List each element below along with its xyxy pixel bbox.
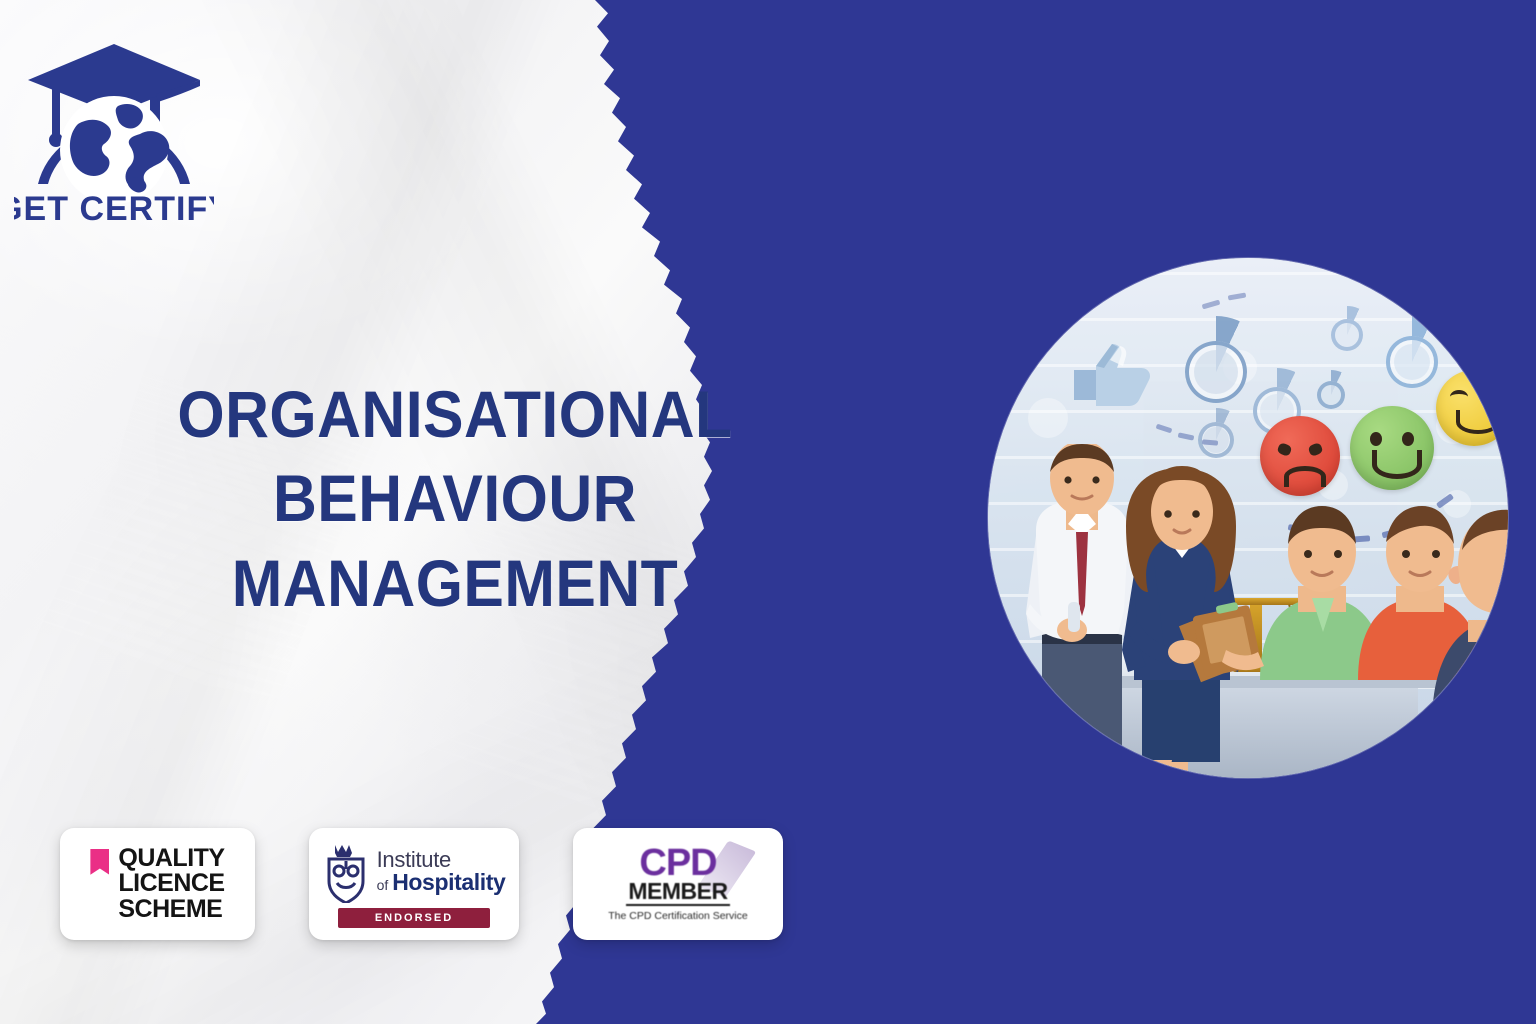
ioh-line-2-bold: Hospitality (392, 869, 505, 895)
title-line-3: MANAGEMENT (92, 541, 819, 625)
title-line-2: BEHAVIOUR (92, 456, 819, 540)
organisational-behaviour-meeting-illustration (988, 258, 1508, 778)
logo-wordmark: GET CERTIFY (14, 190, 214, 224)
cpd-title: CPD (639, 844, 716, 882)
accreditation-badges: QUALITY LICENCE SCHEME (60, 828, 783, 940)
graduation-cap-globe-icon: GET CERTIFY (14, 28, 214, 224)
page-title: ORGANISATIONAL BEHAVIOUR MANAGEMENT (92, 372, 819, 625)
happy-face-emoji (1436, 370, 1508, 446)
cpd-caption: The CPD Certification Service (608, 910, 747, 923)
title-line-1: ORGANISATIONAL (92, 372, 819, 456)
badge-institute-of-hospitality[interactable]: Institute of Hospitality ENDORSED (309, 828, 519, 940)
qls-line-1: QUALITY (118, 846, 224, 872)
get-certify-logo[interactable]: GET CERTIFY (14, 28, 214, 224)
slide-canvas: GET CERTIFY ORGANISATIONAL BEHAVIOUR MAN… (0, 0, 1536, 1024)
qls-line-2: LICENCE (118, 871, 224, 897)
gear-icon (1306, 370, 1356, 420)
heraldic-crest-icon (323, 841, 369, 903)
ioh-line-2-small: of (377, 877, 389, 893)
angry-face-emoji (1260, 416, 1340, 496)
bookmark-icon (90, 849, 109, 875)
badge-quality-licence-scheme[interactable]: QUALITY LICENCE SCHEME (60, 828, 255, 940)
smiling-face-emoji (1350, 406, 1434, 490)
badge-cpd-member[interactable]: CPD MEMBER The CPD Certification Service (573, 828, 783, 940)
bokeh-blob (1028, 398, 1068, 438)
cpd-subtitle: MEMBER (626, 880, 729, 906)
ioh-endorsed-banner: ENDORSED (338, 908, 490, 928)
ioh-line-1: Institute (377, 849, 506, 871)
qls-line-3: SCHEME (118, 897, 224, 923)
standing-woman (1098, 464, 1268, 778)
seated-man-suit (1428, 494, 1508, 724)
